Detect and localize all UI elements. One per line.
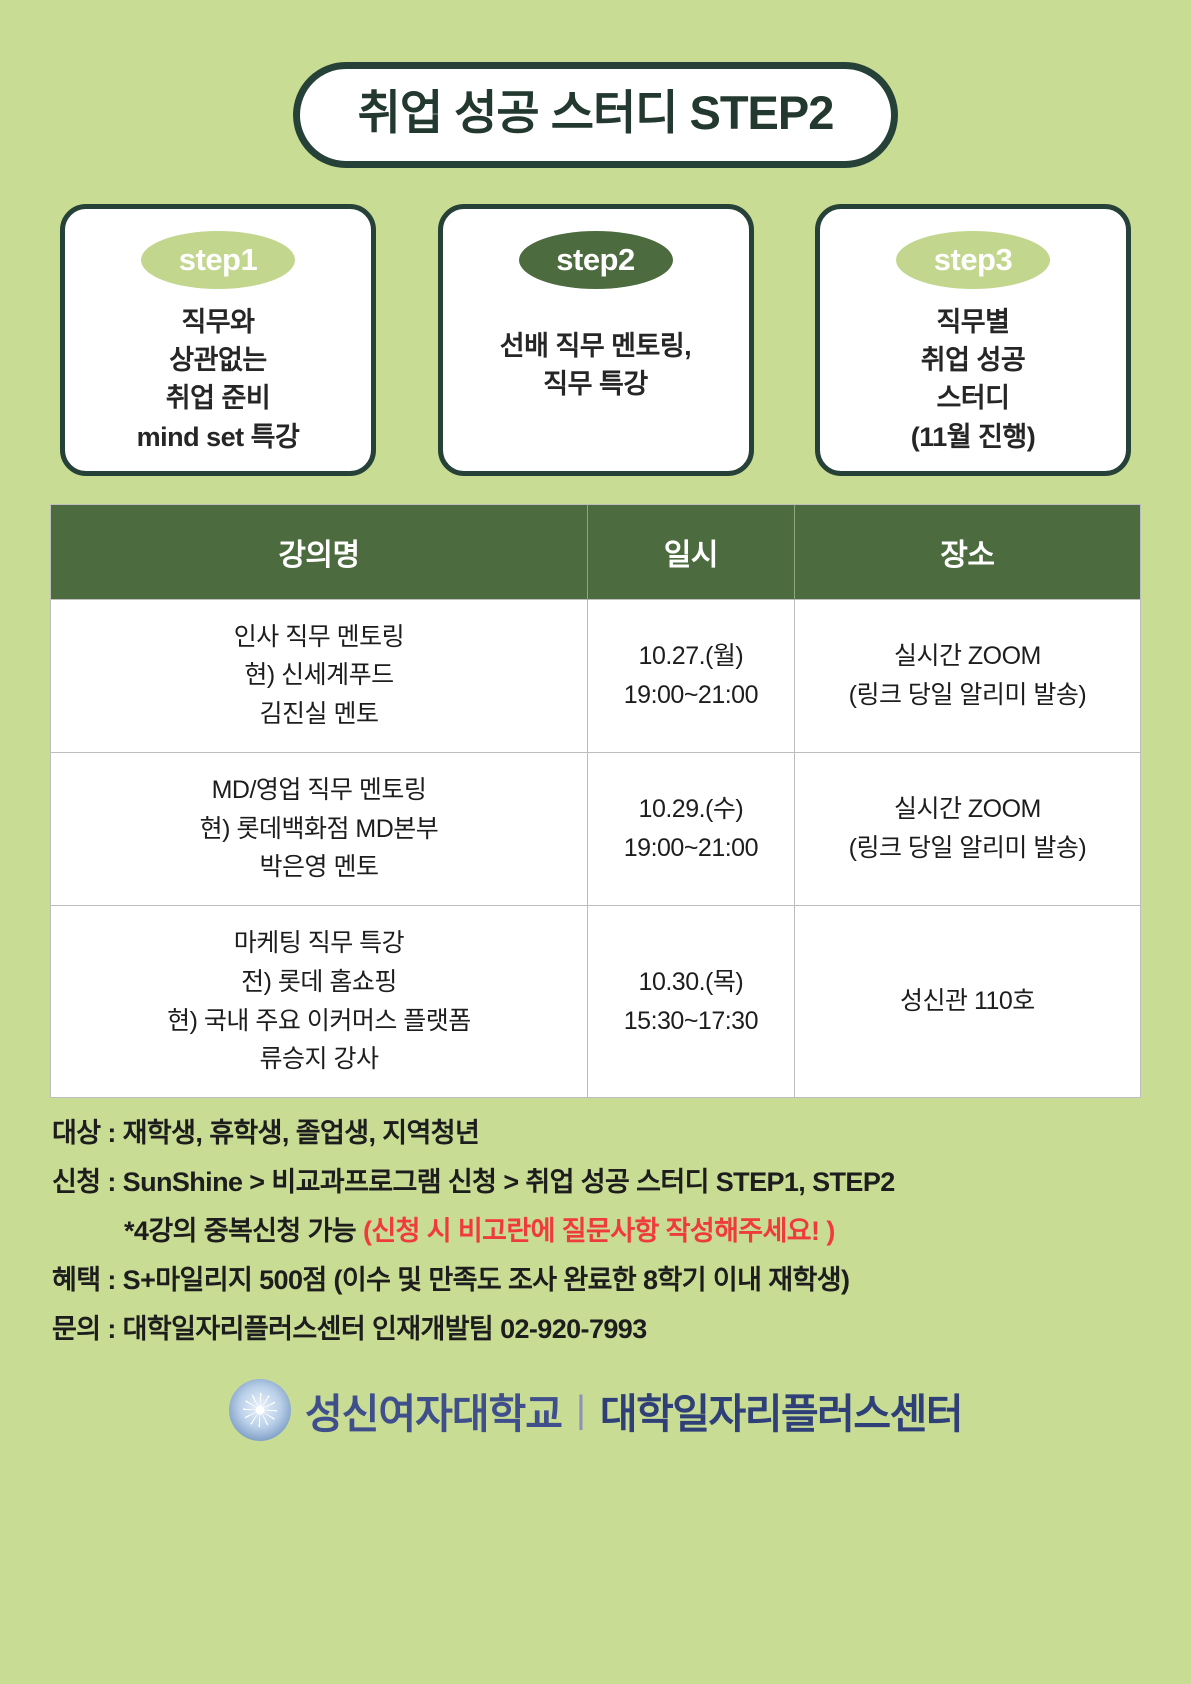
cell-course: 마케팅 직무 특강 전) 롯데 홈쇼핑 현) 국내 주요 이커머스 플랫폼 류승… <box>51 906 587 1098</box>
place-note: (링크 당일 알리미 발송) <box>803 829 1132 868</box>
page-title: 취업 성공 스터디 STEP2 <box>358 87 834 139</box>
cell-place: 실시간 ZOOM (링크 당일 알리미 발송) <box>794 599 1140 752</box>
info-apply-note-main: *4강의 중복신청 가능 <box>124 1216 363 1246</box>
info-block: 대상 : 재학생, 휴학생, 졸업생, 지역청년 신청 : SunShine >… <box>52 1120 1191 1343</box>
column-header-course: 강의명 <box>51 505 587 600</box>
step-line: 선배 직무 멘토링, <box>500 327 691 365</box>
place-line: 실시간 ZOOM <box>803 790 1132 829</box>
step-cards: step1 직무와 상관없는 취업 준비 mind set 특강 step2 선… <box>60 204 1131 476</box>
title-pill: 취업 성공 스터디 STEP2 <box>293 62 899 168</box>
table-body: 인사 직무 멘토링 현) 신세계푸드 김진실 멘토 10.27.(월) 19:0… <box>51 599 1140 1097</box>
date-line: 10.30.(목) <box>596 963 786 1002</box>
course-line: 전) 롯데 홈쇼핑 <box>59 963 579 1002</box>
column-header-place: 장소 <box>794 505 1140 600</box>
info-benefit: 혜택 : S+마일리지 500점 (이수 및 만족도 조사 완료한 8학기 이내… <box>52 1267 1191 1294</box>
schedule-table: 강의명 일시 장소 인사 직무 멘토링 현) 신세계푸드 김진실 멘토 10.2… <box>51 505 1140 1098</box>
step-description-2: 선배 직무 멘토링, 직무 특강 <box>500 327 691 404</box>
info-target: 대상 : 재학생, 휴학생, 졸업생, 지역청년 <box>52 1120 1191 1147</box>
step-card-2: step2 선배 직무 멘토링, 직무 특강 <box>438 204 754 476</box>
course-line: 박은영 멘토 <box>59 848 579 887</box>
course-line: MD/영업 직무 멘토링 <box>59 771 579 810</box>
step-badge-3: step3 <box>896 231 1050 289</box>
step-line: 상관없는 <box>137 341 300 379</box>
time-line: 19:00~21:00 <box>596 676 786 715</box>
step-card-1: step1 직무와 상관없는 취업 준비 mind set 특강 <box>60 204 376 476</box>
course-line: 류승지 강사 <box>59 1040 579 1079</box>
table-row: 인사 직무 멘토링 현) 신세계푸드 김진실 멘토 10.27.(월) 19:0… <box>51 599 1140 752</box>
step-description-1: 직무와 상관없는 취업 준비 mind set 특강 <box>137 303 300 456</box>
logo-divider: | <box>576 1389 586 1432</box>
table-row: 마케팅 직무 특강 전) 롯데 홈쇼핑 현) 국내 주요 이커머스 플랫폼 류승… <box>51 906 1140 1098</box>
poster-title-area: 취업 성공 스터디 STEP2 <box>0 0 1191 168</box>
step-badge-label-2: step2 <box>556 242 634 278</box>
course-line: 현) 롯데백화점 MD본부 <box>59 810 579 849</box>
university-name: 성신여자대학교 <box>305 1380 562 1440</box>
step-description-3: 직무별 취업 성공 스터디 (11월 진행) <box>911 303 1036 456</box>
table-header: 강의명 일시 장소 <box>51 505 1140 600</box>
info-apply-note: *4강의 중복신청 가능 (신청 시 비고란에 질문사항 작성해주세요! ) <box>124 1218 1191 1245</box>
info-apply: 신청 : SunShine > 비교과프로그램 신청 > 취업 성공 스터디 S… <box>52 1169 1191 1196</box>
place-note: (링크 당일 알리미 발송) <box>803 676 1132 715</box>
center-name: 대학일자리플러스센터 <box>600 1380 962 1440</box>
place-line: 성신관 110호 <box>803 982 1132 1021</box>
time-line: 15:30~17:30 <box>596 1002 786 1041</box>
step-line: 직무 특강 <box>500 365 691 403</box>
course-line: 인사 직무 멘토링 <box>59 618 579 657</box>
table-row: MD/영업 직무 멘토링 현) 롯데백화점 MD본부 박은영 멘토 10.29.… <box>51 752 1140 905</box>
step-badge-label-3: step3 <box>934 242 1012 278</box>
course-line: 김진실 멘토 <box>59 695 579 734</box>
cell-datetime: 10.30.(목) 15:30~17:30 <box>587 906 794 1098</box>
cell-course: 인사 직무 멘토링 현) 신세계푸드 김진실 멘토 <box>51 599 587 752</box>
cell-place: 실시간 ZOOM (링크 당일 알리미 발송) <box>794 752 1140 905</box>
column-header-datetime: 일시 <box>587 505 794 600</box>
course-line: 현) 국내 주요 이커머스 플랫폼 <box>59 1002 579 1041</box>
step-line: mind set 특강 <box>137 418 300 456</box>
time-line: 19:00~21:00 <box>596 829 786 868</box>
cell-datetime: 10.29.(수) 19:00~21:00 <box>587 752 794 905</box>
step-line: 직무와 <box>137 303 300 341</box>
step-line: 스터디 <box>911 379 1036 417</box>
course-line: 현) 신세계푸드 <box>59 656 579 695</box>
course-line: 마케팅 직무 특강 <box>59 924 579 963</box>
footer-logo: 성신여자대학교 | 대학일자리플러스센터 <box>0 1379 1191 1441</box>
step-badge-label-1: step1 <box>179 242 257 278</box>
step-card-3: step3 직무별 취업 성공 스터디 (11월 진행) <box>815 204 1131 476</box>
schedule-table-wrapper: 강의명 일시 장소 인사 직무 멘토링 현) 신세계푸드 김진실 멘토 10.2… <box>50 504 1141 1099</box>
place-line: 실시간 ZOOM <box>803 637 1132 676</box>
date-line: 10.29.(수) <box>596 790 786 829</box>
cell-place: 성신관 110호 <box>794 906 1140 1098</box>
step-line: 취업 준비 <box>137 379 300 417</box>
step-line: (11월 진행) <box>911 418 1036 456</box>
cell-course: MD/영업 직무 멘토링 현) 롯데백화점 MD본부 박은영 멘토 <box>51 752 587 905</box>
info-apply-note-highlight: (신청 시 비고란에 질문사항 작성해주세요! ) <box>363 1216 835 1246</box>
step-line: 취업 성공 <box>911 341 1036 379</box>
cell-datetime: 10.27.(월) 19:00~21:00 <box>587 599 794 752</box>
table-header-row: 강의명 일시 장소 <box>51 505 1140 600</box>
step-badge-2: step2 <box>519 231 673 289</box>
university-emblem-icon <box>229 1379 291 1441</box>
step-line: 직무별 <box>911 303 1036 341</box>
info-contact: 문의 : 대학일자리플러스센터 인재개발팀 02-920-7993 <box>52 1316 1191 1343</box>
date-line: 10.27.(월) <box>596 637 786 676</box>
step-badge-1: step1 <box>141 231 295 289</box>
